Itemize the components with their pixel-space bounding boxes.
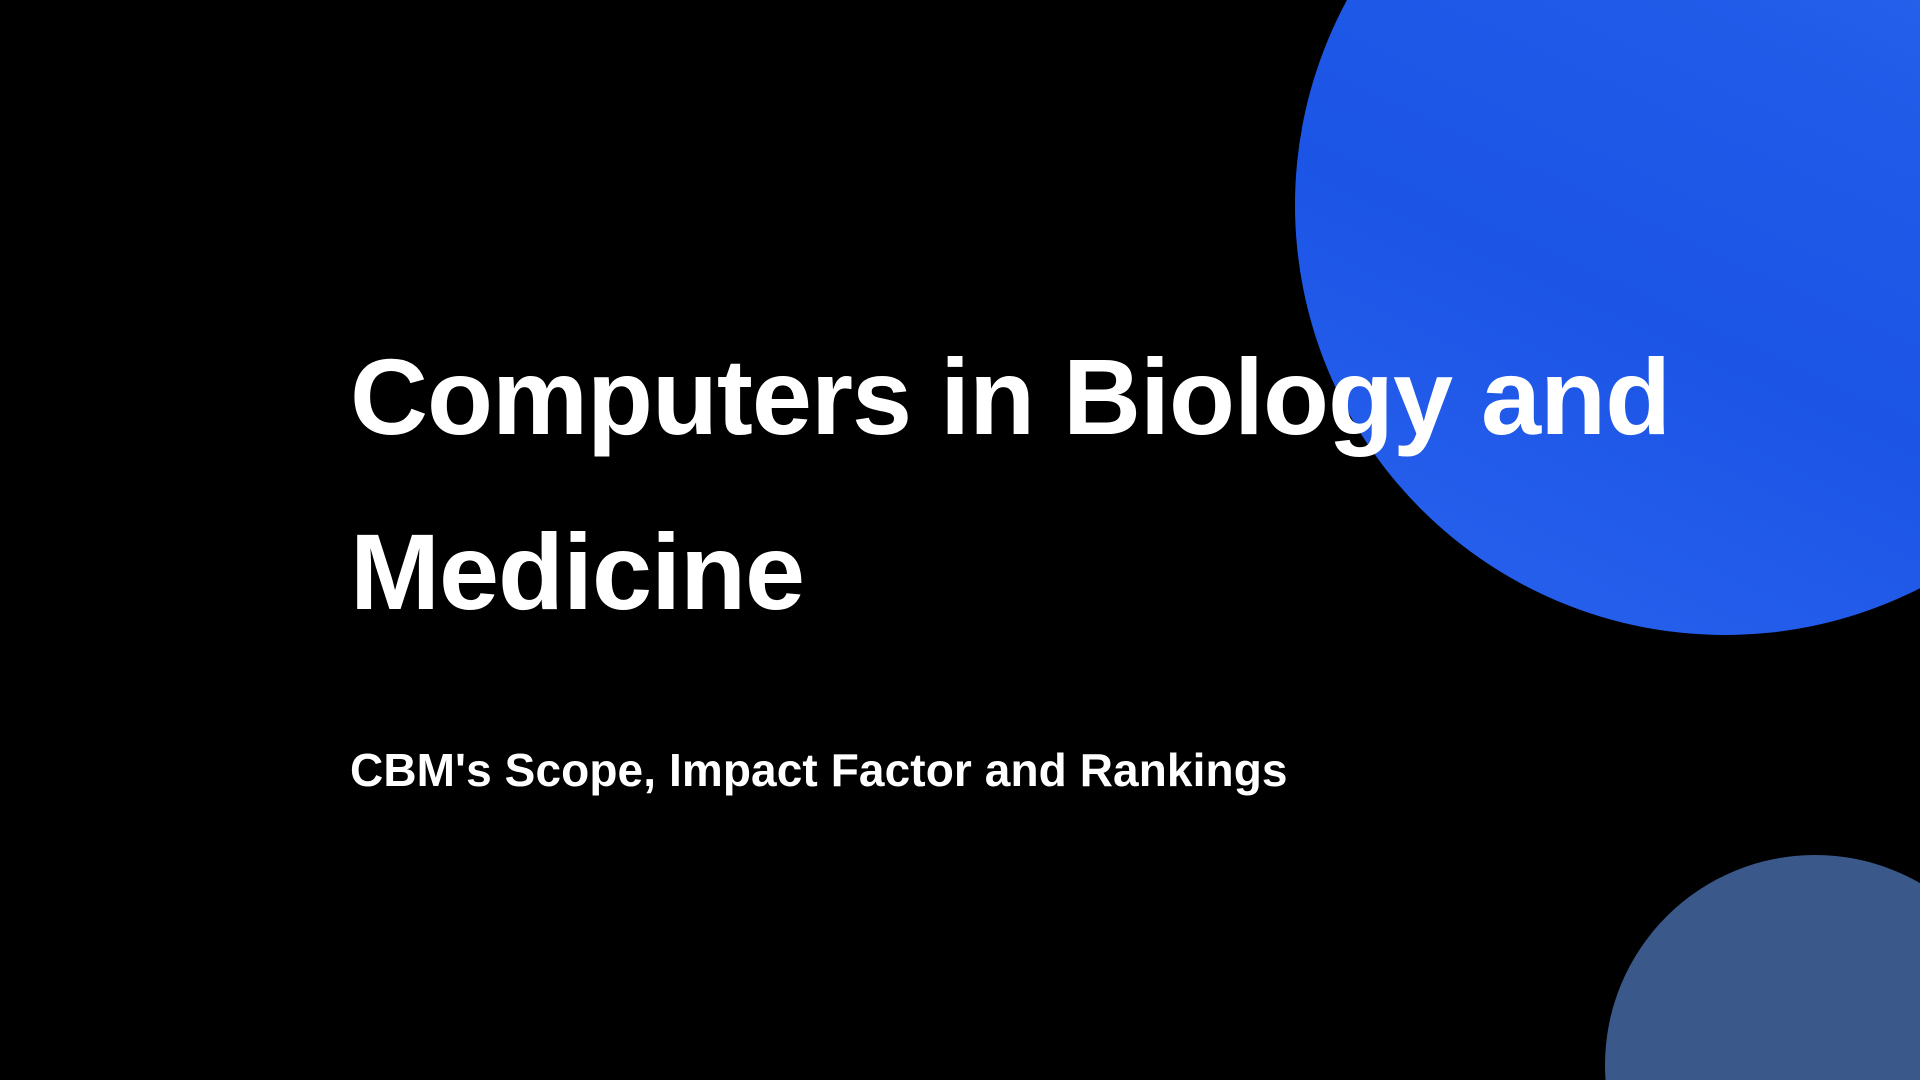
title-slide: Computers in Biology and Medicine CBM's … — [0, 0, 1920, 1080]
slide-subtitle: CBM's Scope, Impact Factor and Rankings — [350, 660, 1510, 816]
slide-title: Computers in Biology and Medicine — [350, 310, 1770, 660]
slide-text-block: Computers in Biology and Medicine CBM's … — [350, 310, 1770, 816]
